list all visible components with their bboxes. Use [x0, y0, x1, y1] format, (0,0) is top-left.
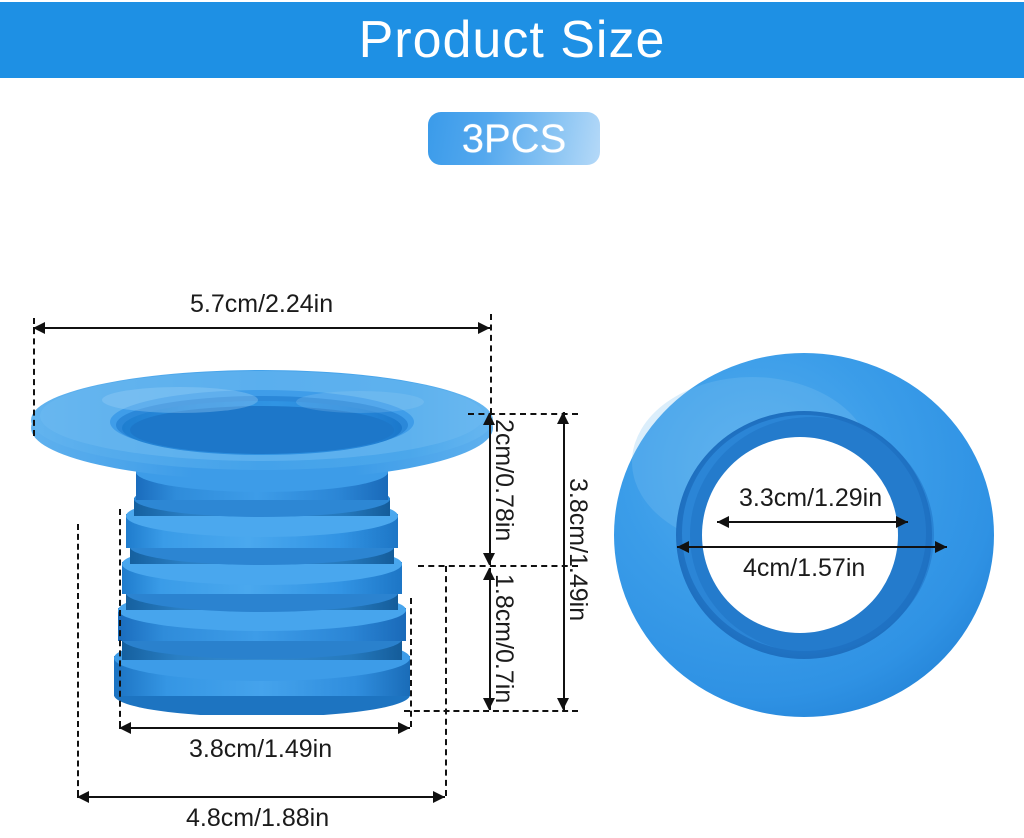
ref-line-base-level — [404, 710, 578, 712]
dim-line-base-width — [119, 727, 410, 729]
arrowhead-body-right — [433, 791, 445, 803]
flanged-seal-illustration — [30, 370, 495, 715]
quantity-badge-label: 3PCS — [462, 119, 567, 159]
ref-line-right-outer — [490, 314, 492, 414]
ref-line-body-right — [445, 566, 447, 796]
dim-label-top-width: 5.7cm/2.24in — [190, 292, 333, 317]
arrowhead-ring-outer-left — [677, 541, 689, 553]
arrowhead-total-height-bottom — [557, 698, 569, 710]
arrowhead-top-left — [33, 322, 45, 334]
ref-line-body-left — [77, 524, 79, 796]
arrowhead-body-left — [77, 791, 89, 803]
arrowhead-base-right — [398, 722, 410, 734]
arrowhead-total-height-top — [557, 412, 569, 424]
ring-illustration — [612, 352, 1000, 722]
arrowhead-top-right — [478, 322, 490, 334]
arrowhead-ring-outer-right — [935, 541, 947, 553]
dim-label-lower-height: 1.8cm/0.7in — [491, 574, 516, 703]
dim-label-base-width: 3.8cm/1.49in — [189, 737, 332, 762]
header-banner: Product Size — [0, 2, 1024, 78]
dim-line-ring-outer — [677, 546, 947, 548]
page-title: Product Size — [359, 14, 666, 66]
dim-label-ring-outer: 4cm/1.57in — [743, 556, 865, 581]
product-flanged-seal-image — [30, 370, 495, 715]
arrowhead-base-left — [119, 722, 131, 734]
ref-line-mid-level — [418, 565, 578, 567]
product-ring-image — [612, 352, 1000, 722]
ref-line-base-right — [410, 598, 412, 727]
dim-label-upper-height: 2cm/0.78in — [491, 419, 516, 541]
arrowhead-ring-inner-left — [717, 516, 729, 528]
product-size-page: Product Size 3PCS — [0, 0, 1024, 838]
dim-label-ring-inner: 3.3cm/1.29in — [739, 486, 882, 511]
dim-label-total-height: 3.8cm/1.49in — [565, 478, 590, 621]
dim-label-body-width: 4.8cm/1.88in — [186, 806, 329, 831]
dim-line-body-width — [77, 796, 445, 798]
ref-line-base-left — [119, 509, 121, 727]
quantity-badge: 3PCS — [428, 112, 600, 165]
ref-line-left-outer — [33, 318, 35, 436]
arrowhead-upper-height-bottom — [483, 553, 495, 565]
arrowhead-ring-inner-right — [896, 516, 908, 528]
dim-line-top-width — [33, 327, 490, 329]
dim-line-ring-inner — [717, 521, 908, 523]
